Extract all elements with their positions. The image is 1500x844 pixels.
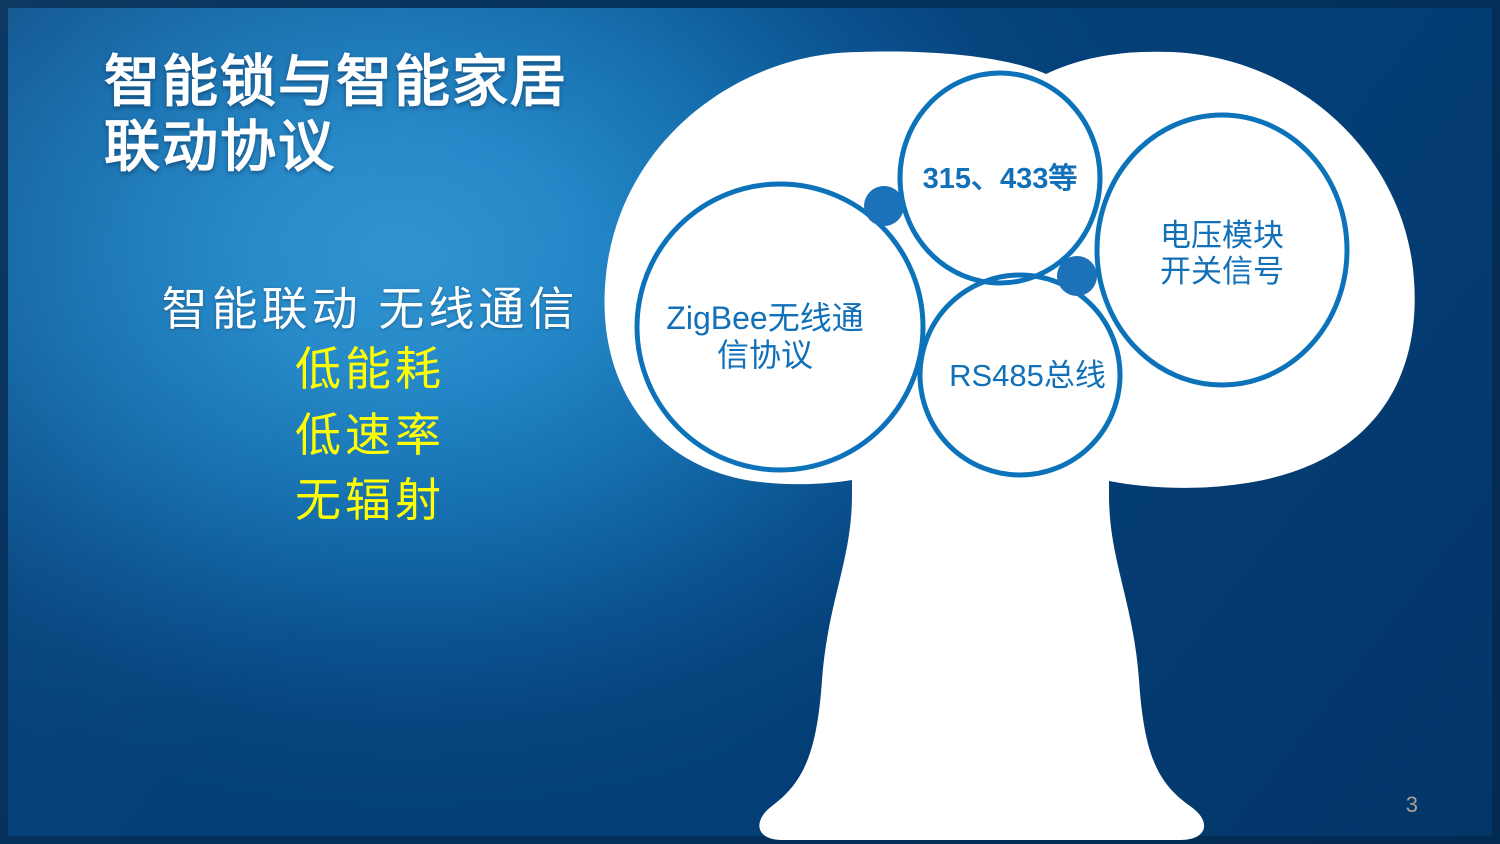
slide-title: 智能锁与智能家居 联动协议 xyxy=(104,50,724,180)
page-number: 3 xyxy=(1406,792,1418,818)
subtitle-bullet-1: 低能耗 xyxy=(90,337,650,402)
subtitle-bullet-3: 无辐射 xyxy=(90,468,650,533)
bubble-label-zigbee: ZigBee无线通 信协议 xyxy=(640,300,890,374)
slide-subtitle: 智能联动 无线通信 低能耗 低速率 无辐射 xyxy=(90,282,650,533)
bubble-label-rf: 315、433等 xyxy=(895,163,1105,197)
slide-canvas: ZigBee无线通 信协议 315、433等 电压模块 开关信号 RS485总线… xyxy=(0,0,1500,844)
subtitle-headline: 智能联动 无线通信 xyxy=(90,282,650,337)
title-line-1: 智能锁与智能家居 xyxy=(104,50,724,115)
subtitle-bullet-2: 低速率 xyxy=(90,403,650,468)
bubble-label-rs485: RS485总线 xyxy=(925,358,1130,394)
bubble-label-voltage: 电压模块 开关信号 xyxy=(1132,218,1312,290)
title-line-2: 联动协议 xyxy=(104,115,724,180)
